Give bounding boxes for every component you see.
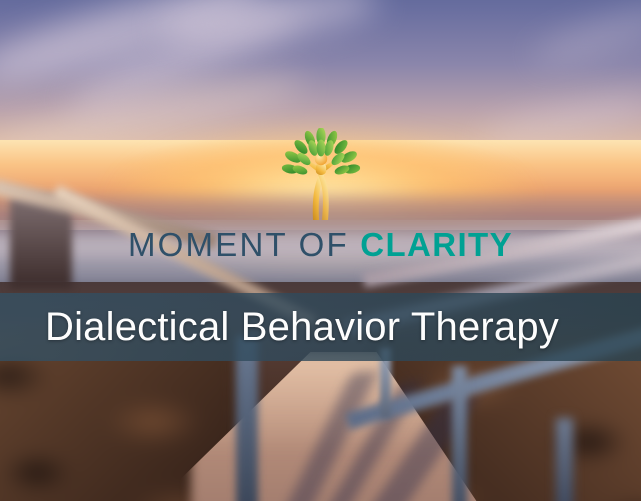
railing-post-right — [452, 366, 467, 501]
slide-canvas: MOMENT OF CLARITY Dialectical Behavior T… — [0, 0, 641, 501]
brand-logo: MOMENT OF CLARITY — [0, 128, 641, 261]
wordmark-bold-text: CLARITY — [360, 226, 513, 263]
railing-post-right — [556, 418, 573, 501]
wordmark-light-text: MOMENT OF — [128, 226, 349, 263]
brand-wordmark: MOMENT OF CLARITY — [128, 228, 513, 261]
page-title: Dialectical Behavior Therapy — [45, 307, 559, 347]
tree-with-person-logo-icon — [279, 128, 363, 220]
title-band: Dialectical Behavior Therapy — [0, 293, 641, 361]
